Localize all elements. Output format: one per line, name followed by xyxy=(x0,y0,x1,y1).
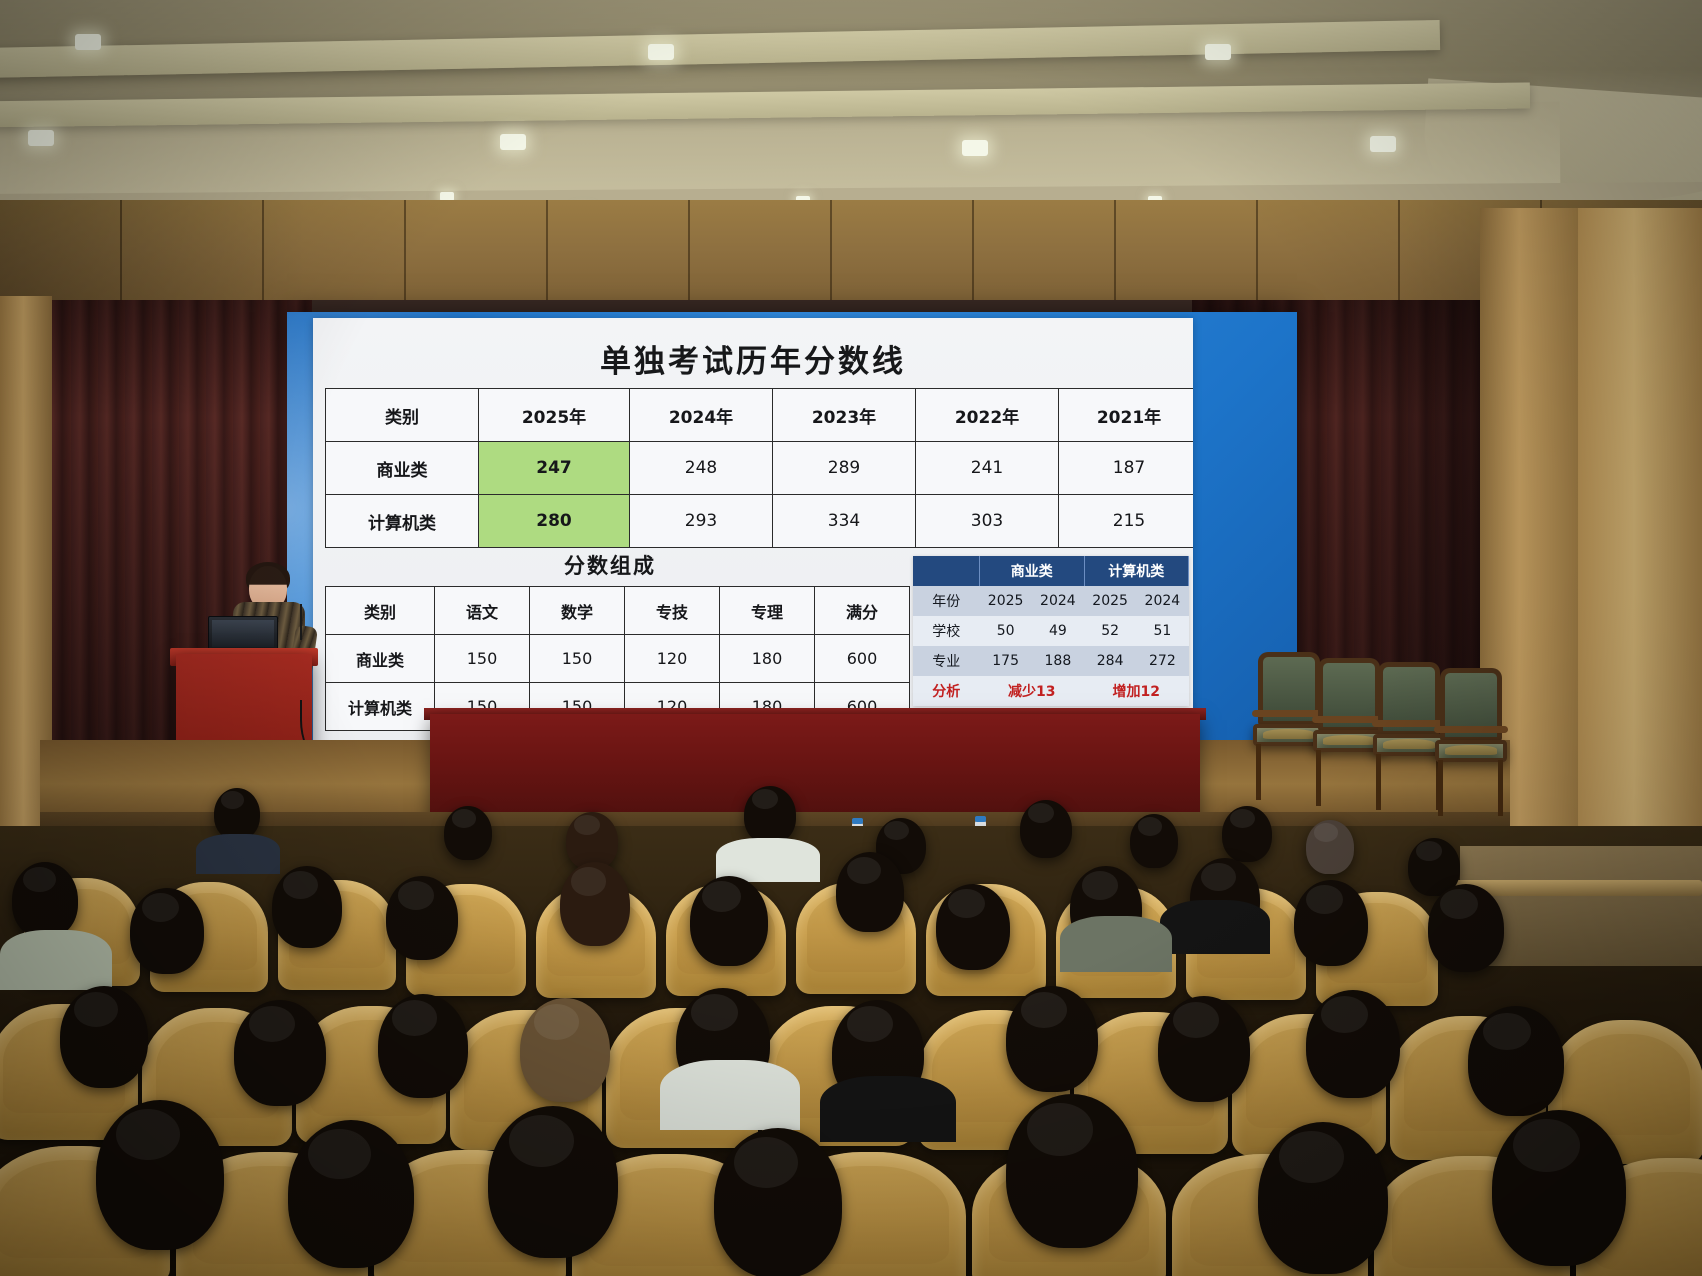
col-header-2022: 2022年 xyxy=(916,389,1059,442)
ceiling-light xyxy=(1370,136,1396,152)
chair-armrest xyxy=(1434,726,1508,733)
table-row: 年份 2025 2024 2025 2024 xyxy=(913,586,1189,616)
cell-computer-2023: 334 xyxy=(773,495,916,548)
audience-head xyxy=(214,788,260,840)
audience-shoulders xyxy=(1060,916,1172,972)
presentation-slide: 单独考试历年分数线 类别 2025年 2024年 2023年 2022年 202… xyxy=(313,318,1193,750)
row-label-analysis: 分析 xyxy=(913,676,980,706)
slide-title: 单独考试历年分数线 xyxy=(313,318,1193,391)
cell-business-2024: 248 xyxy=(630,442,773,495)
cell-major-business-2025: 175 xyxy=(980,646,1032,676)
cell-computer-2021: 215 xyxy=(1059,495,1194,548)
ceiling-light xyxy=(1205,44,1231,60)
cell-school-computer-2024: 51 xyxy=(1136,616,1188,646)
bottle-cap xyxy=(975,816,986,822)
wood-panel-seam xyxy=(1398,200,1400,308)
row-label-business: 商业类 xyxy=(326,635,435,683)
cell-school-computer-2025: 52 xyxy=(1084,616,1136,646)
microphone-stand xyxy=(300,604,302,640)
row-label-major: 专业 xyxy=(913,646,980,676)
audience-head xyxy=(1306,820,1354,874)
audience-head xyxy=(836,852,904,932)
row-label-business: 商业类 xyxy=(326,442,479,495)
table-row: 学校 50 49 52 51 xyxy=(913,616,1189,646)
col-header-2021: 2021年 xyxy=(1059,389,1194,442)
group-header-business: 商业类 xyxy=(980,556,1085,586)
audience-head xyxy=(1306,990,1400,1098)
wood-panel-seam xyxy=(262,200,264,308)
table-row: 分析 减少13 增加12 xyxy=(913,676,1189,706)
cell-business-total: 600 xyxy=(815,635,910,683)
cell-analysis-business: 减少13 xyxy=(980,676,1085,706)
cell-year-computer-2025: 2025 xyxy=(1084,586,1136,616)
projection-screen: 单独考试历年分数线 类别 2025年 2024年 2023年 2022年 202… xyxy=(287,312,1297,750)
table-row: 商业类 247 248 289 241 187 xyxy=(326,442,1194,495)
col-header-total: 满分 xyxy=(815,587,910,635)
audience-head xyxy=(520,998,610,1102)
audience-head xyxy=(378,994,468,1098)
audience-head xyxy=(744,786,796,844)
table-row: 专业 175 188 284 272 xyxy=(913,646,1189,676)
col-header-2025: 2025年 xyxy=(479,389,630,442)
cell-computer-2025: 280 xyxy=(479,495,630,548)
table-header-row: 类别 2025年 2024年 2023年 2022年 2021年 xyxy=(326,389,1194,442)
audience-head xyxy=(1492,1110,1626,1266)
audience-shoulders xyxy=(1160,900,1270,954)
col-header-theory: 专理 xyxy=(720,587,815,635)
cell-computer-2022: 303 xyxy=(916,495,1059,548)
ceiling-light xyxy=(962,140,988,156)
ceiling-light xyxy=(648,44,674,60)
wood-panel-seam xyxy=(972,200,974,308)
ceiling-light xyxy=(75,34,101,50)
col-header-category: 类别 xyxy=(326,389,479,442)
audience-head xyxy=(444,806,492,860)
audience-shoulders xyxy=(196,834,280,874)
audience-head xyxy=(1222,806,1272,862)
bottle-cap xyxy=(852,818,863,824)
chair-leg xyxy=(1316,750,1321,806)
audience-head xyxy=(288,1120,414,1268)
laptop-screen xyxy=(212,620,274,647)
cell-business-2021: 187 xyxy=(1059,442,1194,495)
audience-head xyxy=(714,1128,842,1276)
cell-school-business-2024: 49 xyxy=(1032,616,1084,646)
cell-computer-2024: 293 xyxy=(630,495,773,548)
audience-head xyxy=(60,986,148,1088)
table-header-row: 商业类 计算机类 xyxy=(913,556,1189,586)
audience-head xyxy=(1258,1122,1388,1274)
col-header-2024: 2024年 xyxy=(630,389,773,442)
col-header-category: 类别 xyxy=(326,587,435,635)
audience-head xyxy=(234,1000,326,1106)
cell-analysis-computer: 增加12 xyxy=(1084,676,1189,706)
cell-business-2022: 241 xyxy=(916,442,1059,495)
cell-business-chinese: 150 xyxy=(435,635,530,683)
ceiling-light xyxy=(500,134,526,150)
cell-major-business-2024: 188 xyxy=(1032,646,1084,676)
col-header-skill: 专技 xyxy=(625,587,720,635)
cell-school-business-2025: 50 xyxy=(980,616,1032,646)
wood-panel-seam xyxy=(1114,200,1116,308)
cell-year-business-2025: 2025 xyxy=(980,586,1032,616)
cell-business-skill: 120 xyxy=(625,635,720,683)
audience-head xyxy=(560,862,630,946)
wood-panel-seam xyxy=(546,200,548,308)
table-row: 商业类 150 150 120 180 600 xyxy=(326,635,910,683)
cell-year-business-2024: 2024 xyxy=(1032,586,1084,616)
section-title-composition: 分数组成 xyxy=(325,550,895,580)
chair-leg xyxy=(1376,754,1381,810)
row-label-computer: 计算机类 xyxy=(326,495,479,548)
historical-score-table: 类别 2025年 2024年 2023年 2022年 2021年 商业类 247… xyxy=(325,388,1193,548)
audience-head xyxy=(690,876,768,966)
cell-business-2025: 247 xyxy=(479,442,630,495)
cell-business-2023: 289 xyxy=(773,442,916,495)
audience-head xyxy=(1006,986,1098,1092)
audience-head xyxy=(1294,880,1368,966)
audience-head xyxy=(1020,800,1072,858)
upper-wood-wall xyxy=(0,200,1702,308)
row-label-year: 年份 xyxy=(913,586,980,616)
cell-major-computer-2025: 284 xyxy=(1084,646,1136,676)
audience-head xyxy=(12,862,78,938)
wood-panel-seam xyxy=(120,200,122,308)
audience-head xyxy=(1468,1006,1564,1116)
cell-business-math: 150 xyxy=(530,635,625,683)
audience-head xyxy=(96,1100,224,1250)
wood-panel-seam xyxy=(830,200,832,308)
group-header-computer: 计算机类 xyxy=(1084,556,1189,586)
audience-head xyxy=(130,888,204,974)
audience-head xyxy=(1006,1094,1138,1248)
wall-pillar-right-outer xyxy=(1578,208,1702,908)
col-header-2023: 2023年 xyxy=(773,389,916,442)
audience-shoulders xyxy=(660,1060,800,1130)
wood-panel-seam xyxy=(404,200,406,308)
audience-head xyxy=(488,1106,618,1258)
audience-head xyxy=(272,866,342,948)
chair-seat xyxy=(1435,740,1507,762)
cell-year-computer-2024: 2024 xyxy=(1136,586,1188,616)
cell-major-computer-2024: 272 xyxy=(1136,646,1188,676)
photo-scene: 单独考试历年分数线 类别 2025年 2024年 2023年 2022年 202… xyxy=(0,0,1702,1276)
group-header-blank xyxy=(913,556,980,586)
table-header-row: 类别 语文 数学 专技 专理 满分 xyxy=(326,587,910,635)
table-row: 计算机类 280 293 334 303 215 xyxy=(326,495,1194,548)
col-header-math: 数学 xyxy=(530,587,625,635)
chair-leg xyxy=(1498,760,1503,816)
row-label-school: 学校 xyxy=(913,616,980,646)
chair-leg xyxy=(1438,760,1443,816)
wood-panel-seam xyxy=(688,200,690,308)
audience-head xyxy=(1130,814,1178,868)
audience-shoulders xyxy=(0,930,112,990)
ceiling-light xyxy=(28,130,54,146)
audience-head xyxy=(936,884,1010,970)
audience-shoulders xyxy=(820,1076,956,1142)
cell-business-theory: 180 xyxy=(720,635,815,683)
audience-head xyxy=(1428,884,1504,972)
audience-head xyxy=(386,876,458,960)
chair-leg xyxy=(1256,744,1261,800)
wood-panel-seam xyxy=(1256,200,1258,308)
audience-head xyxy=(1158,996,1250,1102)
col-header-chinese: 语文 xyxy=(435,587,530,635)
admissions-analysis-table: 商业类 计算机类 年份 2025 2024 2025 2024 学校 50 49… xyxy=(913,556,1189,706)
